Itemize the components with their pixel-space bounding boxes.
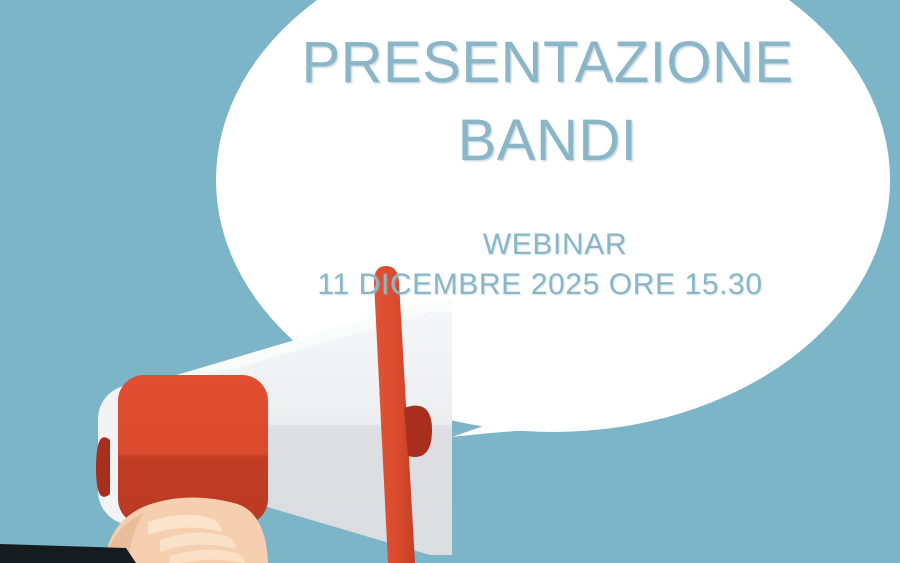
megaphone-back-nub — [96, 437, 110, 497]
poster-canvas: PRESENTAZIONE BANDI WEBINAR 11 DICEMBRE … — [0, 0, 900, 563]
illustration-layer — [0, 0, 900, 563]
